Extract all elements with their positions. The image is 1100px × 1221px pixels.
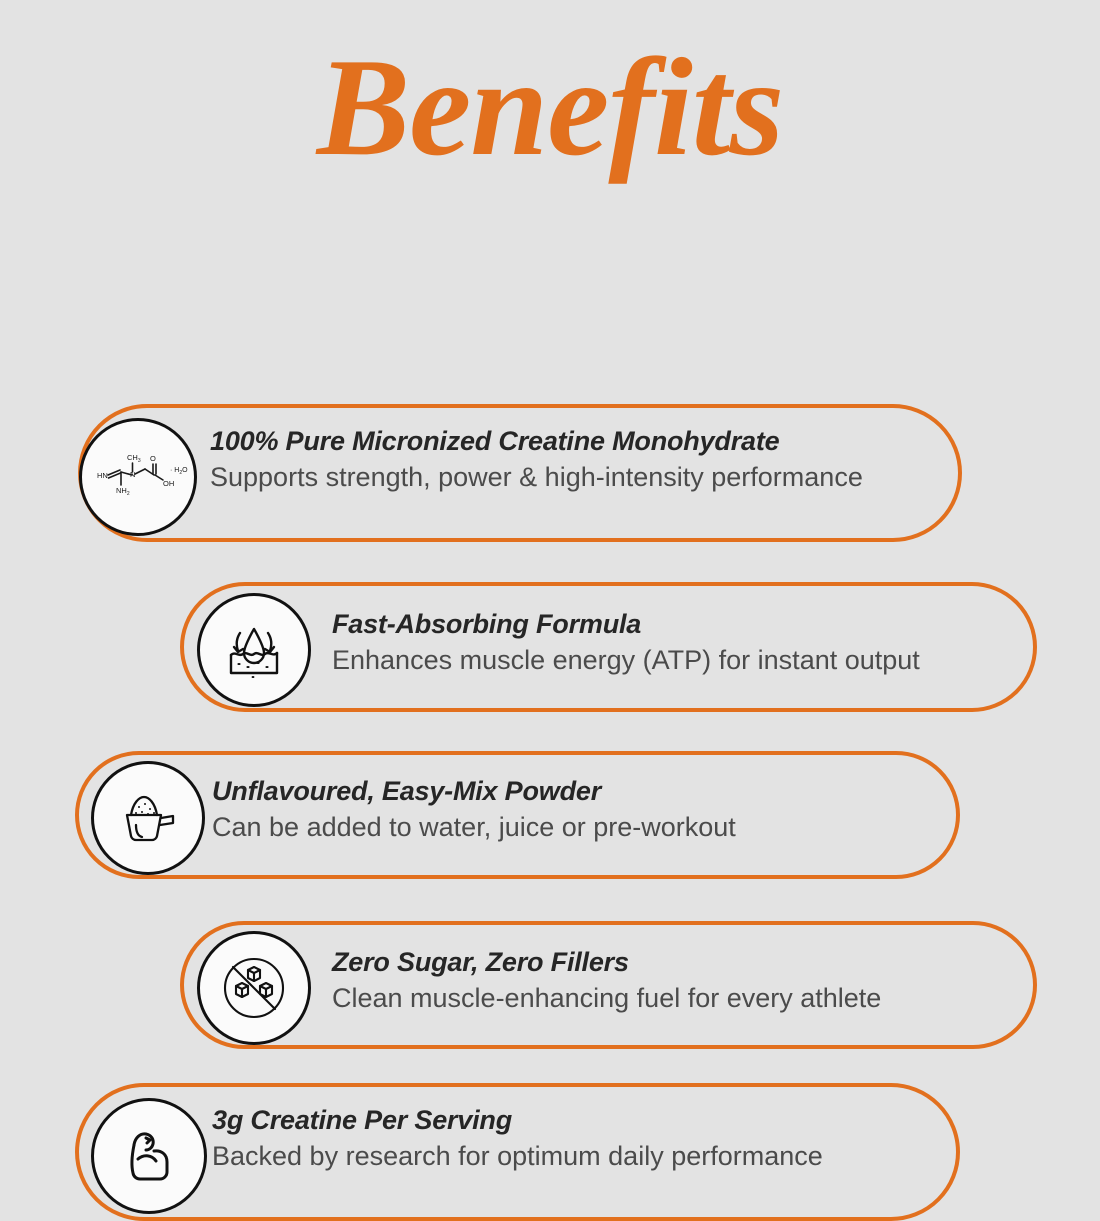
skin-absorption-icon [197,593,311,707]
benefit-item-fast-absorbing: Fast-Absorbing Formula Enhances muscle e… [180,582,1037,712]
benefit-heading: 3g Creatine Per Serving [212,1105,912,1136]
benefit-description: Supports strength, power & high-intensit… [210,460,910,496]
benefit-heading: 100% Pure Micronized Creatine Monohydrat… [210,426,910,457]
flexed-bicep-icon [91,1098,207,1214]
chem-label-n: N [130,470,135,479]
page-header: Benefits [0,0,1100,178]
benefit-heading: Zero Sugar, Zero Fillers [332,947,1032,978]
benefit-description: Backed by research for optimum daily per… [212,1139,912,1175]
chem-label-hydrate: · H2O [170,467,188,476]
benefit-heading: Unflavoured, Easy-Mix Powder [212,776,912,807]
benefit-item-creatine-monohydrate: HN CH3 N O OH NH2 · H2O 100% Pure Micron… [78,404,962,542]
chem-label-o: O [150,454,156,463]
benefit-heading: Fast-Absorbing Formula [332,609,1032,640]
benefit-description: Enhances muscle energy (ATP) for instant… [332,643,1032,679]
chem-label-hn: HN [97,471,108,480]
chem-label-ch3: CH3 [127,453,141,464]
benefit-item-3g-per-serving: 3g Creatine Per Serving Backed by resear… [75,1083,960,1221]
benefit-text-block: Fast-Absorbing Formula Enhances muscle e… [332,609,1032,679]
chem-label-oh: OH [163,479,174,488]
benefit-text-block: 3g Creatine Per Serving Backed by resear… [212,1105,912,1175]
benefit-text-block: 100% Pure Micronized Creatine Monohydrat… [210,426,910,496]
chem-label-nh2: NH2 [116,486,130,497]
creatine-molecule-icon: HN CH3 N O OH NH2 · H2O [79,418,197,536]
powder-scoop-icon [91,761,205,875]
powder-grains-icon [135,803,155,815]
benefit-item-zero-sugar: Zero Sugar, Zero Fillers Clean muscle-en… [180,921,1037,1049]
benefit-item-unflavoured-powder: Unflavoured, Easy-Mix Powder Can be adde… [75,751,960,879]
page-title: Benefits [317,38,783,178]
benefit-description: Can be added to water, juice or pre-work… [212,810,912,846]
benefit-text-block: Zero Sugar, Zero Fillers Clean muscle-en… [332,947,1032,1017]
benefit-description: Clean muscle-enhancing fuel for every at… [332,981,1032,1017]
benefit-text-block: Unflavoured, Easy-Mix Powder Can be adde… [212,776,912,846]
no-sugar-cubes-icon [197,931,311,1045]
skin-dots-icon [237,662,268,678]
